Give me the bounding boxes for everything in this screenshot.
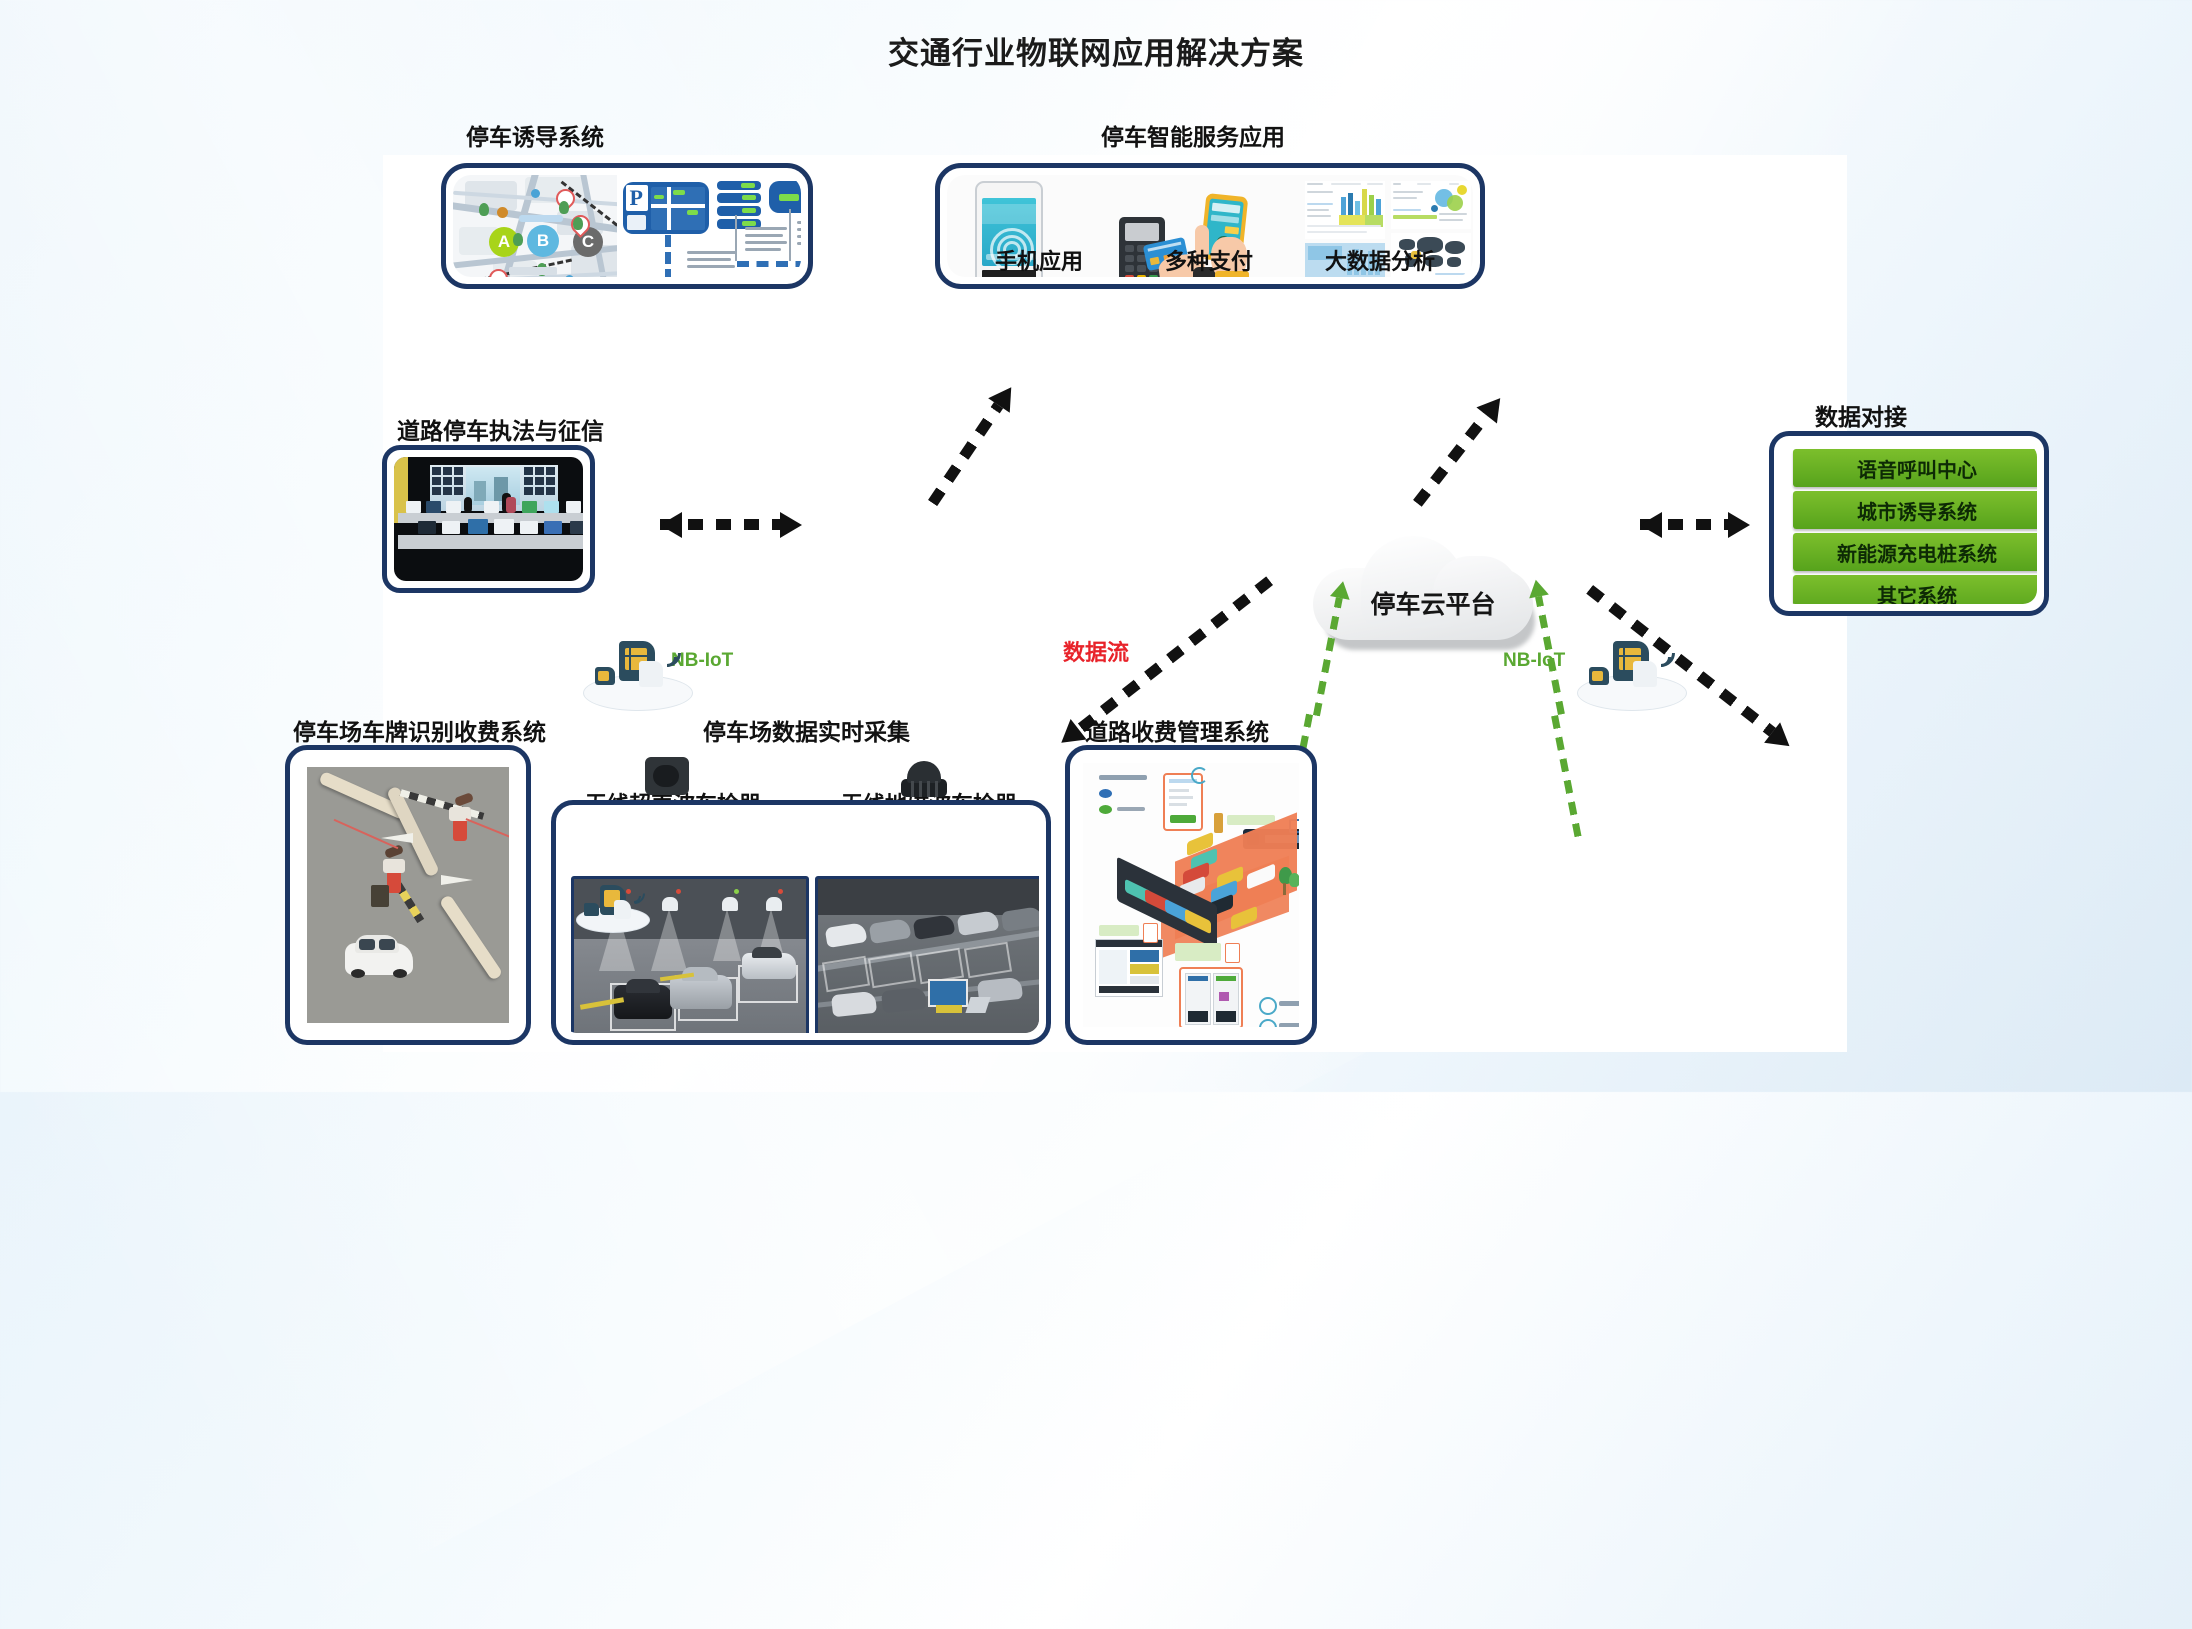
sign-panel-title <box>717 181 761 190</box>
ultrasonic-detector-device-icon <box>641 753 693 799</box>
guidance-sign-illustration: P <box>617 175 801 277</box>
lpr-parking-entrance-photo <box>307 767 509 1023</box>
docking-item-voice-call-center[interactable]: 语音呼叫中心 <box>1793 449 2037 487</box>
page-title: 交通行业物联网应用解决方案 <box>0 28 2192 73</box>
sign-p-letter: P <box>630 185 643 211</box>
section-label-road-toll: 道路收费管理系统 <box>1085 713 1269 747</box>
panel-road-toll[interactable] <box>1065 745 1317 1045</box>
data-flow-label: 数据流 <box>1063 635 1129 667</box>
section-label-enforcement: 道路停车执法与征信 <box>397 412 604 446</box>
panel-enforcement[interactable] <box>382 445 595 593</box>
label-big-data-analysis: 大数据分析 <box>1295 244 1465 276</box>
section-label-data-docking: 数据对接 <box>1815 398 1907 432</box>
label-multi-payment: 多种支付 <box>1123 244 1295 276</box>
ultrasonic-garage-photo <box>571 876 809 1033</box>
nbiot-module-icon-right <box>1577 635 1687 713</box>
section-label-lpr: 停车场车牌识别收费系统 <box>293 713 546 747</box>
diagram-canvas: 停车诱导系统 A B C <box>383 155 1847 1052</box>
section-label-parking-guidance: 停车诱导系统 <box>466 118 604 152</box>
control-room-photo <box>394 457 583 581</box>
map-marker-b[interactable]: B <box>527 225 559 257</box>
section-label-realtime-collection: 停车场数据实时采集 <box>703 713 910 747</box>
roadside-parking-illustration <box>1083 763 1299 1027</box>
parking-guidance-illustration: A B C P <box>453 175 801 277</box>
nbiot-module-icon-left <box>583 635 693 713</box>
geomagnetic-detector-device-icon <box>897 753 949 799</box>
docking-item-ev-charging[interactable]: 新能源充电桩系统 <box>1793 533 2037 571</box>
docking-item-other-systems[interactable]: 其它系统 <box>1793 575 2037 604</box>
panel-data-docking[interactable]: 语音呼叫中心 城市诱导系统 新能源充电桩系统 其它系统 <box>1769 431 2049 616</box>
section-label-smart-service: 停车智能服务应用 <box>1101 118 1285 152</box>
panel-realtime-collection[interactable] <box>551 800 1051 1045</box>
docking-item-city-guidance[interactable]: 城市诱导系统 <box>1793 491 2037 529</box>
panel-lpr[interactable] <box>285 745 531 1045</box>
panel-parking-guidance[interactable]: A B C P <box>441 163 813 289</box>
city-map-illustration: A B C <box>453 175 617 277</box>
panel-smart-service[interactable]: 手机应用 多种支付 大数据分析 <box>935 163 1485 289</box>
label-mobile-app: 手机应用 <box>955 244 1123 276</box>
parking-guidance-sign: P <box>623 182 709 234</box>
sign-control-center <box>769 181 801 213</box>
geomagnetic-garage-photo <box>815 876 1039 1033</box>
nbiot-label-right: NB-IoT <box>1503 650 1565 672</box>
